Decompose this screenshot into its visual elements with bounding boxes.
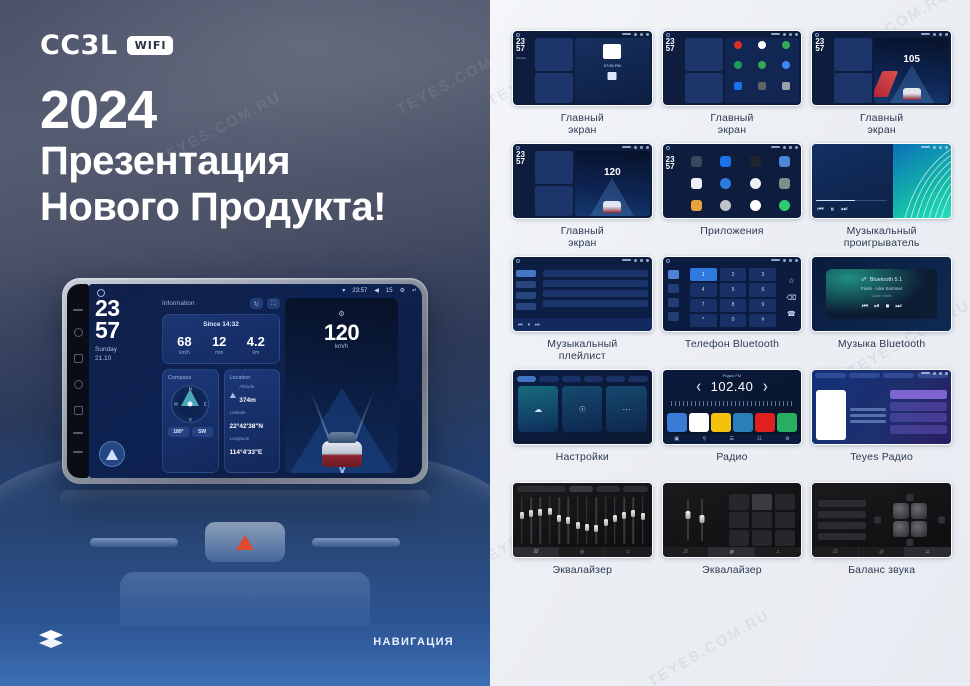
speaker-front-right[interactable] [911,503,927,519]
left-hero-panel: TEYES.COM.RU TEYES.COM.RU TEYES.COM.RU T… [0,0,490,686]
bass-slider[interactable] [687,499,689,541]
tab-balance[interactable]: ◎ [559,547,605,557]
pause-icon[interactable]: ⏸ [528,322,531,328]
app-grid[interactable] [683,152,799,215]
dialpad-key[interactable]: 8 [720,299,747,312]
clock-day: Sunday [516,56,533,60]
settings-cards[interactable]: ☁ ☉ ⋯ [518,386,647,432]
dialpad-key[interactable]: 7 [690,299,717,312]
contacts-icon[interactable] [668,284,679,293]
dialpad-key[interactable]: 4 [690,283,717,296]
radio-toolbar[interactable]: ▣ ⚲ ☰ ☷ ⚙ [663,434,802,444]
arrow-down-icon[interactable] [906,539,913,546]
balance-presets[interactable] [818,494,866,546]
gallery-item[interactable]: ⏮ ⏸ ⏭ Музыкальный плейлист [512,256,653,364]
trip-stats: 68 km/h 12 min 4.2 km [167,335,275,356]
radio-frequency: 102.40 [711,379,754,394]
tab-display[interactable] [562,376,581,382]
arrow-up-icon[interactable] [906,494,913,501]
center-console [120,572,370,626]
apps-icon[interactable] [74,354,83,363]
eq-band-slider[interactable] [620,495,628,546]
app-icon[interactable] [691,200,702,211]
volume-icon[interactable] [74,406,83,415]
chevron-right-icon[interactable]: ❯ [762,383,768,391]
app-icon[interactable] [691,178,702,189]
gallery-item[interactable]: 23 57 120 Главный э [512,143,653,251]
gallery-item[interactable]: ⏮ ⏸ ⏭ [811,143,952,251]
chevron-left-icon[interactable]: ❮ [696,383,702,391]
now-playing-bar[interactable]: ⏮ ⏸ ⏭ [513,318,652,331]
gallery-caption: Радио [716,451,747,477]
equalizer-tabs[interactable]: ☷ ◎ ♫ [812,547,951,557]
arrow-left-icon[interactable] [874,517,881,524]
tab-genres[interactable] [883,373,914,378]
list-item[interactable] [890,425,947,434]
status-bar [771,33,798,36]
hazard-triangle-icon [236,535,254,550]
preset-button[interactable] [729,530,749,546]
app-icon[interactable] [734,61,742,69]
speaker-grid[interactable] [893,503,927,537]
tab-more[interactable] [628,376,647,382]
headline-block: 2024 Презентация Нового Продукта! [40,82,386,230]
dialpad-key[interactable]: 6 [749,283,776,296]
call-icon[interactable]: ☎ [787,310,796,318]
eq-band-slider[interactable] [555,495,563,546]
status-bar [921,33,948,36]
home-icon [666,146,670,150]
gallery-item[interactable]: 23 57 Sunday 07:50 PM [512,30,653,138]
headline-line-1: Презентация [40,139,386,185]
clock-minutes: 57 [95,320,157,342]
info-widgets [535,38,573,103]
dialpad-key[interactable]: 1 [690,268,717,281]
media-controls[interactable]: ⏮ ⏸ ⏭ [817,206,847,214]
preset-button[interactable] [729,494,749,510]
longitude-label: Longitude [230,436,275,441]
gallery-caption: Эквалайзер [553,564,613,590]
tab-wifi[interactable] [517,376,536,382]
trip-card [685,38,723,71]
thumb-equalizer[interactable]: ☷ ◎ ♫ [512,482,653,558]
thumb-music-playlist[interactable]: ⏮ ⏸ ⏭ [512,256,653,332]
media-time: 07:50 PM [575,63,650,68]
previous-icon[interactable]: ⏮ [817,206,823,214]
dashboard-trim-band [60,490,430,508]
equalizer-sliders[interactable] [518,495,647,546]
app-icon[interactable] [758,82,766,90]
gallery-caption: Teyes Радио [850,451,913,477]
preset-button[interactable] [752,530,772,546]
eq-band-slider[interactable] [518,495,526,546]
playlist-screen: ⏮ ⏸ ⏭ [513,264,652,331]
gallery-item[interactable]: 2357 [662,143,803,251]
driving-view-widget[interactable]: ⚙ 120 km/h [285,298,398,473]
next-icon[interactable]: ⏭ [535,322,540,328]
preset-station[interactable] [755,413,775,432]
clock-widget: 23 57 [516,151,533,216]
more-card[interactable]: ⋯ [606,386,646,432]
clock-widget: 23 57 [666,38,683,103]
gallery-caption: Баланс звука [848,564,915,590]
gain-sliders[interactable] [669,494,722,546]
thumb-home-screen-apps[interactable]: 23 57 [662,30,803,106]
preset-station[interactable] [711,413,731,432]
compass-location-card [535,186,573,216]
pause-icon[interactable]: ⏸ [831,206,835,214]
compass-location-card [834,73,872,103]
album-art [603,44,621,59]
power-icon[interactable] [74,328,83,337]
app-icon[interactable] [779,156,790,167]
headline-year: 2024 [40,82,386,139]
thumb-home-screen-drive[interactable]: 23 57 120 [512,143,653,219]
phone-sidebar[interactable] [663,264,685,331]
gear-icon[interactable]: ⚙ [400,287,405,294]
list-item[interactable] [890,402,947,411]
eq-band-slider[interactable] [546,495,554,546]
app-icon[interactable] [782,61,790,69]
equalizer-header[interactable] [517,486,648,492]
home-layout: 23 57 [666,38,800,103]
teyes-body [816,390,947,440]
gallery-item[interactable]: ☷ ◎ ♫ Эквалайзер [662,482,803,590]
dialpad-key[interactable]: * [690,314,717,327]
preset-button[interactable] [569,486,593,492]
plus-icon[interactable] [73,451,83,453]
dialpad-key[interactable]: # [749,314,776,327]
car-window [328,432,356,443]
preset-button[interactable] [818,511,866,518]
call-log-icon[interactable] [668,312,679,321]
wifi-icon: ☁ [534,405,542,414]
tab-live[interactable] [815,373,846,378]
list-item[interactable] [890,390,947,399]
bluetooth-icon: ☍ [861,277,867,283]
information-actions[interactable]: ↻ ⛶ [250,298,280,309]
tab-balance[interactable]: ◎ [859,547,905,557]
list-item[interactable] [543,290,648,297]
info-widgets [834,38,872,103]
compass-degrees: 180° [168,427,189,437]
dialpad-key[interactable]: 0 [720,314,747,327]
altitude-label: Altitude [239,384,256,389]
gallery-item[interactable]: 23 57 [662,30,803,138]
bluetooth-music-screen: ☍ Bluetooth 5.1 Feels - Like Summer Calv… [812,257,951,331]
backspace-icon[interactable]: ⌫ [786,294,796,302]
gallery-caption: Главный экран [710,112,753,138]
thumb-equalizer-simple[interactable]: ☷ ◎ ♫ [662,482,803,558]
home-icon [666,259,670,263]
track-title: Feels - Like Summer [861,286,903,291]
refresh-icon[interactable]: ↻ [250,298,263,309]
eq-band-slider[interactable] [583,495,591,546]
visualizer-pane [893,144,951,218]
phone-actions[interactable]: ☆ ⌫ ☎ [781,264,801,331]
thumb-sound-balance[interactable]: ☷ ◎ ♫ [811,482,952,558]
thumb-home-screen-media[interactable]: 23 57 Sunday 07:50 PM [512,30,653,106]
thumb-applications[interactable]: 2357 [662,143,803,219]
reset-button[interactable] [596,486,620,492]
app-icon[interactable] [779,178,790,189]
track-artist: Calvin Harris [872,294,892,298]
navigation-label: НАВИГАЦИЯ [373,636,454,648]
list-item[interactable] [543,300,648,307]
eq-band-slider[interactable] [630,495,638,546]
layers-icon[interactable] [38,629,64,654]
compass-center-dot [188,402,193,407]
wifi-card[interactable]: ☁ [518,386,558,432]
gallery-caption: Приложения [700,225,763,251]
mountain-icon: ⛰ [230,391,237,401]
head-unit-device: ▾ 23:57 ◀ 15 ⚙ ↵ 23 57 Sunday 21.10 [62,278,428,484]
clock-widget: 23 57 Sunday 21.10 [95,298,157,473]
music-player-screen: ⏮ ⏸ ⏭ [812,144,951,218]
eq-band-slider[interactable] [564,495,572,546]
list-item[interactable] [890,413,947,422]
trip-stat: 4.2 km [247,335,265,356]
equalizer-tabs[interactable]: ☷ ◎ ♫ [663,547,802,557]
clock-minutes: 57 [516,158,533,165]
thumb-settings[interactable]: ☁ ☉ ⋯ [512,369,653,445]
driving-view-widget: 120 [575,151,650,216]
media-controls[interactable]: ⏮ ⏯ ⏹ ⏭ [862,303,902,311]
dialpad-key[interactable]: 2 [720,268,747,281]
app-shortcuts[interactable] [725,38,800,103]
preset-button[interactable] [752,512,772,528]
bluetooth-card: ☍ Bluetooth 5.1 Feels - Like Summer Calv… [826,269,937,319]
hotspot-card[interactable]: ☉ [562,386,602,432]
trip-stat-value: 68 [177,335,191,348]
app-icon[interactable] [782,41,790,49]
app-icon[interactable] [758,41,766,49]
head-unit-screen[interactable]: ▾ 23:57 ◀ 15 ⚙ ↵ 23 57 Sunday 21.10 [89,284,422,478]
tab-sound[interactable] [539,376,558,382]
dialpad-key[interactable]: 3 [749,268,776,281]
list-item[interactable] [543,280,648,287]
head-unit-side-buttons[interactable] [67,284,89,478]
tab-stations[interactable] [849,373,880,378]
screenshot-gallery-panel: TEYES.COM.RU TEYES.COM.RU TEYES.COM.RU T… [490,0,970,686]
location-latitude-row: Latitude 22°42'38"N [230,410,275,433]
band-button[interactable]: ▣ [674,436,679,442]
tab-sound[interactable]: ♫ [605,547,651,557]
preset-station[interactable] [733,413,753,432]
tab-eq[interactable]: ☷ [663,547,709,557]
information-title: Information [162,300,195,307]
car-3d-model [603,201,621,213]
preset-button[interactable] [818,533,866,540]
next-icon[interactable]: ⏭ [895,303,901,311]
arrow-right-icon[interactable] [938,517,945,524]
thumb-music-player[interactable]: ⏮ ⏸ ⏭ [811,143,952,219]
gallery-item[interactable]: 23 57 105 [811,30,952,138]
preset-button[interactable] [729,512,749,528]
save-button[interactable] [623,486,647,492]
eq-band-slider[interactable] [537,495,545,546]
eq-band-slider[interactable] [611,495,619,546]
preset-label [517,486,566,492]
driving-view-widget: 105 [874,38,949,103]
gallery-caption: Эквалайзер [702,564,762,590]
stop-icon[interactable] [608,72,617,80]
app-icon[interactable] [750,156,761,167]
sidebar-item-all[interactable] [516,270,536,277]
settings-tabs[interactable] [517,376,648,382]
info-widgets [685,38,723,103]
eq-band-slider[interactable] [639,495,647,546]
menu-icon[interactable] [73,309,83,311]
dialpad-key[interactable]: 9 [749,299,776,312]
home-icon[interactable] [74,380,83,389]
preset-button[interactable] [818,500,866,507]
nav-arrow-glyph [106,449,118,460]
latitude-label: Latitude [230,410,275,415]
gallery-item[interactable]: ☷ ◎ ♫ Баланс звука [811,482,952,590]
preset-button[interactable] [775,512,795,528]
gallery-item[interactable]: ☷ ◎ ♫ Эквалайзер [512,482,653,590]
app-icon[interactable] [779,200,790,211]
minus-icon[interactable] [73,432,83,434]
gallery-item[interactable]: Радио FM ❮ 102.40 ❯ [662,369,803,477]
tab-eq[interactable]: ☷ [812,547,858,557]
previous-icon[interactable]: ⏮ [862,303,868,311]
list-item[interactable] [543,270,648,277]
clock-minutes: 57 [666,45,683,52]
dialpad-icon[interactable] [668,270,679,279]
album-art [816,390,846,440]
radio-tuner[interactable]: ❮ 102.40 ❯ [663,379,802,394]
eq-band-slider[interactable] [592,495,600,546]
station-list[interactable] [890,390,947,440]
home-layout: 23 57 120 [516,151,650,216]
tab-balance[interactable]: ◎ [709,547,755,557]
tab-eq[interactable]: ☷ [513,547,559,557]
hotspot-icon: ☉ [579,405,586,414]
balance-pad-area[interactable] [874,494,945,546]
gallery-item[interactable]: 1 2 3 4 5 6 7 8 9 * 0 # [662,256,803,364]
thumb-teyes-radio[interactable] [811,369,952,445]
more-icon: ⋯ [623,405,631,414]
dialpad-key[interactable]: 5 [720,283,747,296]
hazard-light-button[interactable] [205,522,285,562]
gallery-item[interactable]: ☍ Bluetooth 5.1 Feels - Like Summer Calv… [811,256,952,364]
app-icon[interactable] [734,82,742,90]
preset-station[interactable] [667,413,687,432]
status-bar [771,259,798,262]
sidebar-item-artists[interactable] [516,281,536,288]
eq-band-slider[interactable] [527,495,535,546]
previous-icon[interactable]: ⏮ [518,322,523,328]
sidebar-item-folders[interactable] [516,303,536,310]
bluetooth-phone-screen: 1 2 3 4 5 6 7 8 9 * 0 # [663,264,802,331]
sidebar-item-albums[interactable] [516,292,536,299]
stop-icon[interactable]: ⏹ [886,303,890,311]
preset-button[interactable] [818,522,866,529]
treble-slider[interactable] [701,499,703,541]
gallery-item[interactable]: ☁ ☉ ⋯ Настройки [512,369,653,477]
status-bar [921,146,948,149]
altitude-value: 374m [239,397,256,404]
preset-station[interactable] [777,413,797,432]
settings-icon[interactable]: ⚙ [785,436,789,442]
app-icon[interactable] [720,156,731,167]
preset-buttons[interactable] [729,494,795,546]
app-icon[interactable] [720,200,731,211]
eq-band-slider[interactable] [574,495,582,546]
tab-sound[interactable]: ♫ [905,547,951,557]
dialpad[interactable]: 1 2 3 4 5 6 7 8 9 * 0 # [685,264,782,331]
preset-station[interactable] [689,413,709,432]
compass-widget[interactable]: Compass N S E W [162,369,219,473]
tab-system[interactable] [584,376,603,382]
preset-button[interactable] [775,530,795,546]
speaker-front-left[interactable] [893,503,909,519]
car-dashboard-scene: ▾ 23:57 ◀ 15 ⚙ ↵ 23 57 Sunday 21.10 [0,236,490,686]
play-pause-icon[interactable]: ⏯ [874,303,880,311]
search-icon[interactable] [668,298,679,307]
next-icon[interactable]: ⏭ [841,206,847,214]
back-arrow-icon[interactable]: ↵ [412,287,417,294]
expand-icon[interactable]: ⛶ [267,298,280,309]
preset-button[interactable] [752,494,772,510]
clock-minutes: 57 [815,45,832,52]
gallery-caption: Музыкальный плейлист [547,338,617,364]
app-icon[interactable] [782,82,790,90]
app-icon[interactable] [750,200,761,211]
speaker-rear-right[interactable] [911,521,927,537]
favorite-icon[interactable]: ☆ [788,277,794,285]
status-bar [921,372,948,375]
compass-location-card [685,73,723,103]
app-icon[interactable] [720,178,731,189]
search-icon[interactable]: ⚲ [702,436,706,442]
tab-sound[interactable]: ♫ [755,547,801,557]
eq-band-slider[interactable] [602,495,610,546]
home-icon[interactable] [97,289,105,297]
watermark: TEYES.COM.RU [645,607,773,686]
frequency-scale[interactable] [671,401,794,406]
navigation-arrow-icon[interactable] [99,441,125,467]
app-icon[interactable] [691,156,702,167]
eq-icon[interactable]: ☷ [757,436,761,442]
tab-about[interactable] [606,376,625,382]
progress-bar[interactable] [816,200,887,202]
radio-presets[interactable] [667,413,798,432]
compass-east-label: E [204,402,207,407]
app-icon[interactable] [750,178,761,189]
information-header: Information ↻ ⛶ [162,298,280,309]
equalizer-tabs[interactable]: ☷ ◎ ♫ [513,547,652,557]
equalizer-screen: ☷ ◎ ♫ [513,483,652,557]
location-widget[interactable]: Location ⛰ Altitude 374m [224,369,281,473]
app-icon[interactable] [734,41,742,49]
thumb-bluetooth-phone[interactable]: 1 2 3 4 5 6 7 8 9 * 0 # [662,256,803,332]
headline-line-2: Нового Продукта! [40,185,386,231]
list-icon[interactable]: ☰ [729,436,733,442]
app-icon[interactable] [758,61,766,69]
status-time: 23:57 [352,288,367,294]
thumb-home-screen-road[interactable]: 23 57 105 [811,30,952,106]
speaker-rear-left[interactable] [893,521,909,537]
thumb-radio[interactable]: Радио FM ❮ 102.40 ❯ [662,369,803,445]
compass-north-label: N [189,386,192,391]
thumb-bluetooth-music[interactable]: ☍ Bluetooth 5.1 Feels - Like Summer Calv… [811,256,952,332]
speed-value: 120 [285,320,398,346]
gallery-item[interactable]: Teyes Радио [811,369,952,477]
preset-button[interactable] [775,494,795,510]
